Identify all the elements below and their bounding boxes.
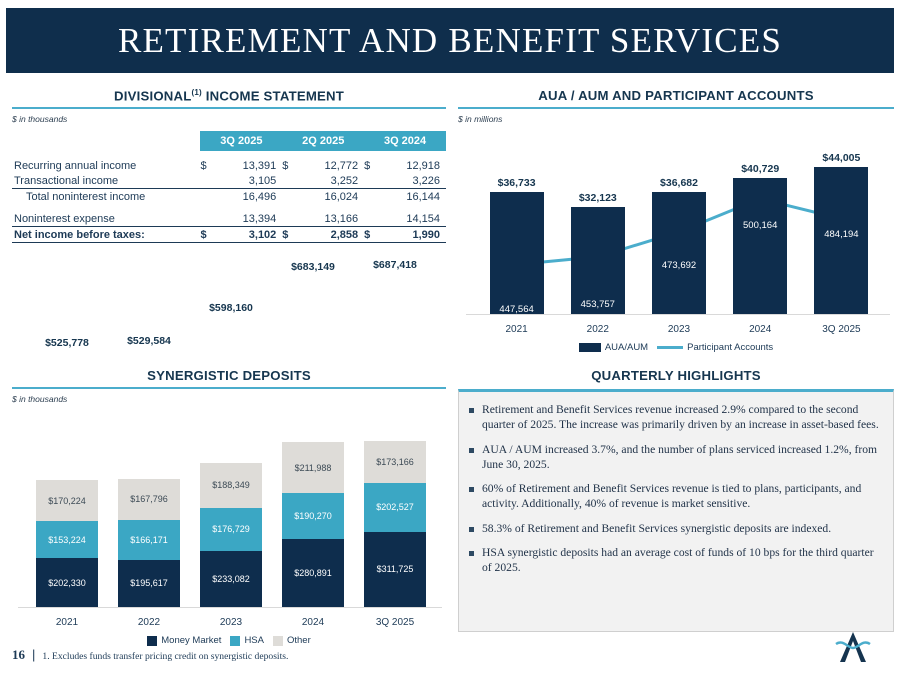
participant-accounts-value-label: 453,757 (571, 299, 625, 310)
bar-value-label: $36,733 (490, 177, 544, 189)
currency-symbol: $ (282, 158, 296, 173)
participant-accounts-value-label: 484,194 (814, 229, 868, 240)
slide: RETIREMENT AND BENEFIT SERVICES DIVISION… (0, 0, 900, 675)
bullet-square-icon (469, 448, 474, 453)
x-axis-label: 2021 (26, 617, 108, 628)
bar-aua-aum: $36,733447,564 (490, 192, 544, 314)
bar-segment-other: $170,224 (36, 480, 98, 521)
aua-chart-title: AUA / AUM AND PARTICIPANT ACCOUNTS (458, 88, 894, 103)
x-axis-label: 2024 (272, 617, 354, 628)
column-header-1: 2Q 2025 (282, 131, 364, 151)
bar-segment-hsa: $153,224 (36, 521, 98, 558)
table-row: Recurring annual income $ 13,391 $ 12,77… (12, 158, 446, 173)
row-value: 3,226 (378, 173, 446, 189)
participant-accounts-value-label: 473,692 (652, 260, 706, 271)
highlight-text: HSA synergistic deposits had an average … (482, 545, 881, 576)
footnote-marker: (1) (191, 88, 201, 97)
bar-segment-hsa: $202,527 (364, 483, 426, 532)
row-value: 12,772 (296, 158, 364, 173)
stack-total-label: $683,149 (282, 261, 344, 273)
row-label: Net income before taxes: (12, 227, 200, 243)
bar-column: $32,123453,757 (571, 207, 625, 314)
row-value: 1,990 (378, 227, 446, 243)
row-value: 3,102 (214, 227, 282, 243)
quarterly-highlights-panel: QUARTERLY HIGHLIGHTS Retirement and Bene… (458, 368, 894, 632)
row-label: Noninterest expense (12, 211, 200, 227)
currency-symbol: $ (364, 227, 378, 243)
bar-column: $36,682473,692 (652, 192, 706, 314)
bar-aua-aum: $40,729500,164 (733, 178, 787, 314)
highlight-text: 58.3% of Retirement and Benefit Services… (482, 521, 831, 536)
currency-symbol (282, 211, 296, 227)
title-rule (12, 387, 446, 389)
x-axis-label: 2021 (476, 324, 557, 335)
currency-symbol (364, 173, 378, 189)
aua-legend: AUA/AUM Participant Accounts (458, 342, 894, 353)
row-value: 12,918 (378, 158, 446, 173)
bar-segment-other: $188,349 (200, 463, 262, 508)
slide-header: RETIREMENT AND BENEFIT SERVICES (6, 8, 894, 73)
legend-item-participant-accounts: Participant Accounts (657, 342, 773, 353)
stack-total-label: $525,778 (36, 337, 98, 349)
currency-symbol (364, 189, 378, 205)
spacer-row (12, 204, 446, 211)
slide-footer: 16 | 1. Excludes funds transfer pricing … (12, 647, 288, 663)
row-label: Recurring annual income (12, 158, 200, 173)
currency-symbol (200, 173, 214, 189)
stacked-bar: $529,584$167,796$166,171$195,617 (118, 479, 180, 607)
footer-divider: | (32, 647, 35, 662)
bar-value-label: $44,005 (814, 152, 868, 164)
bar-column: $40,729500,164 (733, 178, 787, 314)
bar-aua-aum: $36,682473,692 (652, 192, 706, 314)
legend-label: AUA/AUM (605, 342, 648, 353)
highlight-bullet-item: 60% of Retirement and Benefit Services r… (469, 481, 881, 512)
stack-total-label: $598,160 (200, 302, 262, 314)
income-units-label: $ in thousands (12, 114, 446, 124)
bar-segment-hsa: $166,171 (118, 520, 180, 560)
row-value: 16,496 (214, 189, 282, 205)
legend-label: Other (287, 635, 311, 646)
x-axis-label: 3Q 2025 (801, 324, 882, 335)
row-value: 16,024 (296, 189, 364, 205)
bar-aua-aum: $32,123453,757 (571, 207, 625, 314)
row-value: 3,105 (214, 173, 282, 189)
table-header-row: 3Q 2025 2Q 2025 3Q 2024 (12, 131, 446, 151)
bar-segment-hsa: $176,729 (200, 508, 262, 551)
page-title: RETIREMENT AND BENEFIT SERVICES (118, 21, 782, 61)
currency-symbol (200, 189, 214, 205)
bullet-square-icon (469, 487, 474, 492)
currency-symbol: $ (364, 158, 378, 173)
highlight-text: AUA / AUM increased 3.7%, and the number… (482, 442, 881, 473)
stacked-bar: $525,778$170,224$153,224$202,330 (36, 480, 98, 607)
table-row: Transactional income 3,105 3,252 3,226 (12, 173, 446, 189)
title-rule (12, 107, 446, 109)
column-header-0: 3Q 2025 (200, 131, 282, 151)
highlight-bullet-item: 58.3% of Retirement and Benefit Services… (469, 521, 881, 536)
x-axis-label: 2024 (720, 324, 801, 335)
bullet-square-icon (469, 551, 474, 556)
currency-symbol: $ (282, 227, 296, 243)
synergistic-deposits-panel: SYNERGISTIC DEPOSITS $ in thousands $525… (12, 368, 446, 646)
row-value: 13,166 (296, 211, 364, 227)
bar-segment-other: $167,796 (118, 479, 180, 520)
currency-symbol: $ (200, 227, 214, 243)
bar-value-label: $40,729 (733, 163, 787, 175)
x-axis-label: 2022 (557, 324, 638, 335)
legend-swatch-icon (579, 343, 601, 352)
row-label: Total noninterest income (12, 189, 200, 205)
legend-item-money-market: Money Market (147, 635, 221, 646)
row-value: 14,154 (378, 211, 446, 227)
x-axis-label: 2023 (190, 617, 272, 628)
deposits-units-label: $ in thousands (12, 394, 446, 404)
income-statement-table: 3Q 2025 2Q 2025 3Q 2024 Recurring annual… (12, 131, 446, 243)
row-value: 13,394 (214, 211, 282, 227)
table-row: Noninterest expense 13,394 13,166 14,154 (12, 211, 446, 227)
bar-value-label: $36,682 (652, 177, 706, 189)
legend-item-aua-aum: AUA/AUM (579, 342, 648, 353)
bar-segment-money-market: $280,891 (282, 539, 344, 607)
legend-label: HSA (244, 635, 264, 646)
legend-swatch-icon (273, 636, 283, 646)
footnote-text: 1. Excludes funds transfer pricing credi… (42, 651, 288, 662)
currency-symbol (282, 189, 296, 205)
legend-label: Money Market (161, 635, 221, 646)
title-rule (458, 107, 894, 109)
bar-segment-other: $173,166 (364, 441, 426, 483)
stacked-bar: $687,418$173,166$202,527$311,725 (364, 441, 426, 607)
stacked-bar: $683,149$211,988$190,270$280,891 (282, 442, 344, 607)
x-axis-label: 2023 (638, 324, 719, 335)
highlight-bullet-item: HSA synergistic deposits had an average … (469, 545, 881, 576)
bar-segment-hsa: $190,270 (282, 493, 344, 539)
row-label: Transactional income (12, 173, 200, 189)
participant-accounts-value-label: 500,164 (733, 220, 787, 231)
row-value: 13,391 (214, 158, 282, 173)
synergistic-deposits-chart: $525,778$170,224$153,224$202,3302021$529… (12, 406, 446, 634)
legend-item-hsa: HSA (230, 635, 264, 646)
x-axis-label: 3Q 2025 (354, 617, 436, 628)
table-row: Total noninterest income 16,496 16,024 1… (12, 189, 446, 205)
legend-label: Participant Accounts (687, 342, 773, 353)
currency-symbol (282, 173, 296, 189)
company-logo-icon (830, 627, 876, 667)
deposits-legend: Money Market HSA Other (12, 635, 446, 646)
page-number: 16 (12, 647, 25, 663)
highlight-text: 60% of Retirement and Benefit Services r… (482, 481, 881, 512)
row-value: 16,144 (378, 189, 446, 205)
stack-total-label: $687,418 (364, 259, 426, 271)
bar-segment-other: $211,988 (282, 442, 344, 493)
legend-line-icon (657, 346, 683, 349)
participant-accounts-value-label: 447,564 (490, 304, 544, 315)
bar-segment-money-market: $195,617 (118, 560, 180, 607)
bar-segment-money-market: $311,725 (364, 532, 426, 607)
income-statement-title-main: DIVISIONAL (114, 88, 191, 103)
stack-total-label: $529,584 (118, 335, 180, 347)
spacer-row (12, 151, 446, 158)
highlights-title: QUARTERLY HIGHLIGHTS (458, 368, 894, 383)
row-value: 2,858 (296, 227, 364, 243)
bullet-square-icon (469, 527, 474, 532)
aua-units-label: $ in millions (458, 114, 894, 124)
legend-item-other: Other (273, 635, 311, 646)
bullet-square-icon (469, 408, 474, 413)
highlight-bullet-item: Retirement and Benefit Services revenue … (469, 402, 881, 433)
divisional-income-statement-panel: DIVISIONAL(1) INCOME STATEMENT $ in thou… (12, 88, 446, 243)
header-blank (12, 131, 200, 151)
row-value: 3,252 (296, 173, 364, 189)
x-axis-label: 2022 (108, 617, 190, 628)
table-row-total: Net income before taxes: $ 3,102 $ 2,858… (12, 227, 446, 243)
bar-segment-money-market: $202,330 (36, 558, 98, 607)
bar-value-label: $32,123 (571, 192, 625, 204)
bar-segment-money-market: $233,082 (200, 551, 262, 607)
legend-swatch-icon (147, 636, 157, 646)
x-axis (18, 607, 442, 608)
income-statement-title-rest: INCOME STATEMENT (202, 88, 344, 103)
highlights-box: Retirement and Benefit Services revenue … (458, 389, 894, 632)
bar-aua-aum: $44,005484,194 (814, 167, 868, 314)
highlight-text: Retirement and Benefit Services revenue … (482, 402, 881, 433)
bar-column: $36,733447,564 (490, 192, 544, 314)
currency-symbol (364, 211, 378, 227)
income-statement-title: DIVISIONAL(1) INCOME STATEMENT (12, 88, 446, 103)
deposits-chart-title: SYNERGISTIC DEPOSITS (12, 368, 446, 383)
stacked-bar: $598,160$188,349$176,729$233,082 (200, 463, 262, 607)
bar-column: $44,005484,194 (814, 167, 868, 314)
aua-aum-panel: AUA / AUM AND PARTICIPANT ACCOUNTS $ in … (458, 88, 894, 353)
highlight-bullet-item: AUA / AUM increased 3.7%, and the number… (469, 442, 881, 473)
currency-symbol (200, 211, 214, 227)
legend-swatch-icon (230, 636, 240, 646)
column-header-2: 3Q 2024 (364, 131, 446, 151)
currency-symbol: $ (200, 158, 214, 173)
aua-aum-chart: $36,733447,5642021$32,123453,7572022$36,… (458, 126, 894, 341)
